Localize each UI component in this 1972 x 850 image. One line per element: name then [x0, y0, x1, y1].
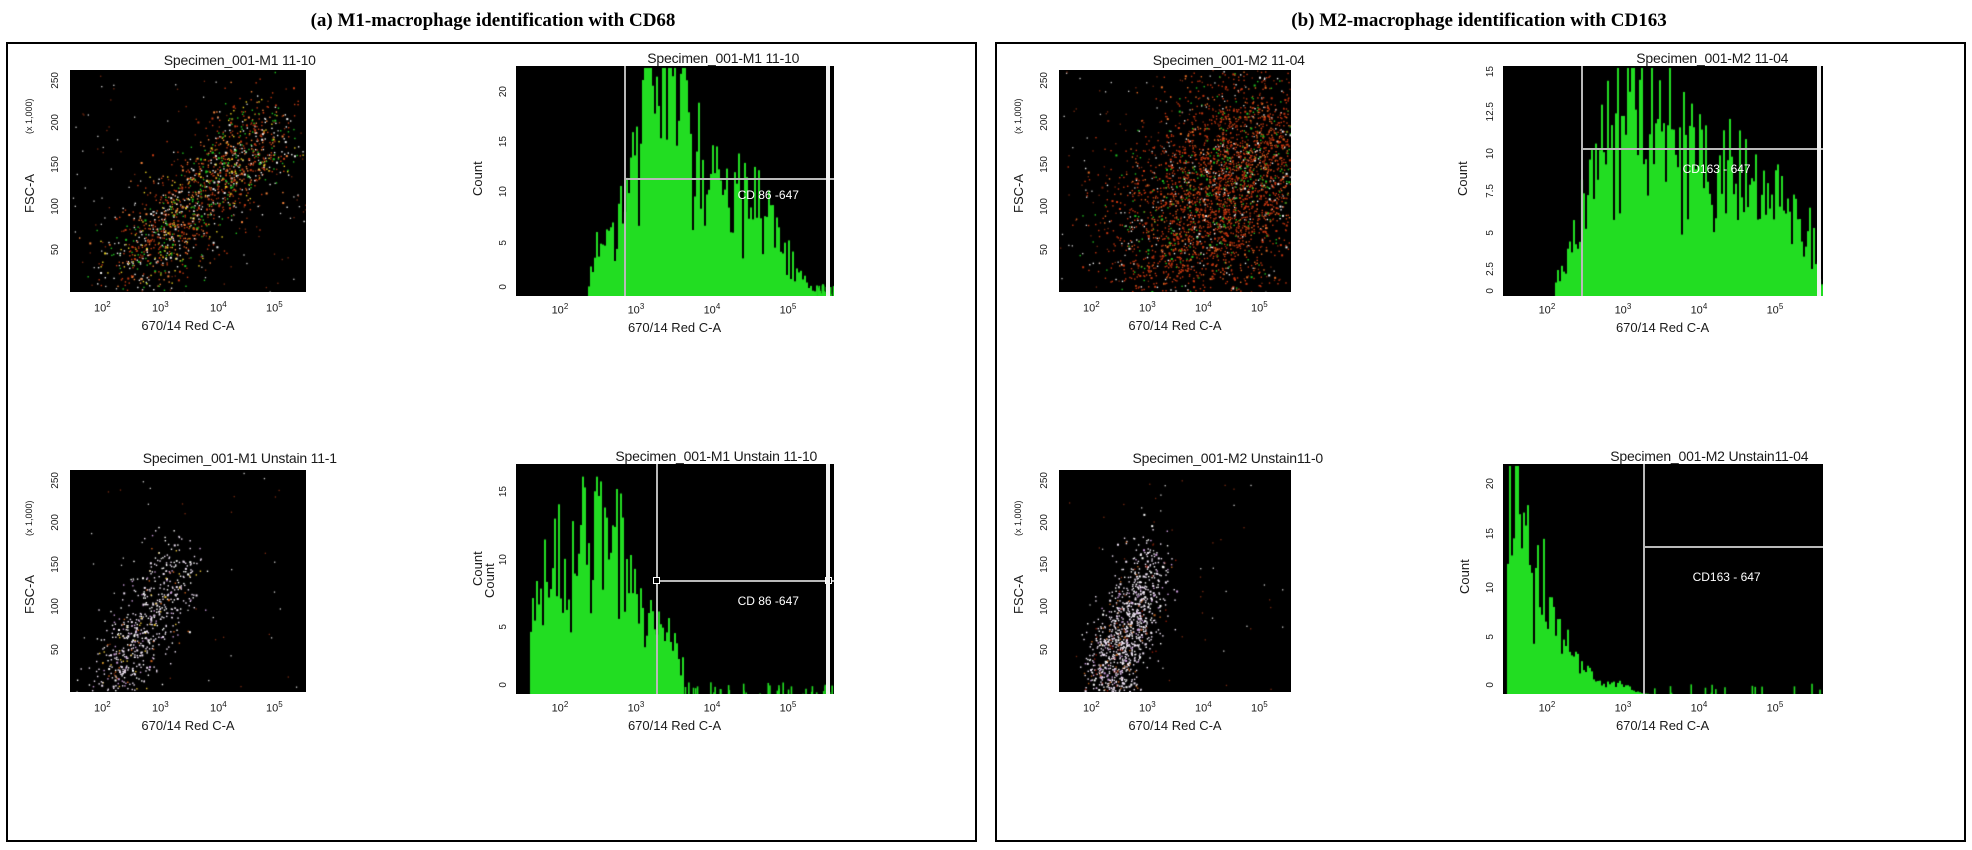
y-tick-50: 50 [1039, 244, 1050, 255]
y-tick-20: 20 [1485, 478, 1496, 489]
y-axis-label: FSC-A [1011, 550, 1026, 640]
y-tick-200: 200 [1039, 514, 1050, 531]
y-tick-0: 0 [1485, 288, 1496, 294]
scatter-canvas[interactable] [70, 470, 306, 692]
x-tick-1e5: 105 [1251, 700, 1268, 715]
right-edge-bar [826, 464, 830, 694]
y-tick-15: 15 [1485, 66, 1496, 77]
plot-title: Specimen_001-M2 Unstain11-0 [1023, 450, 1433, 466]
x-tick-1e2: 102 [1539, 302, 1556, 317]
plot-title: Specimen_001-M1 Unstain 11-1 [32, 450, 448, 466]
plot-a-bottom-right[interactable]: Specimen_001-M1 Unstain 11-10 Count Coun… [452, 442, 975, 840]
histogram-bars [1503, 464, 1823, 694]
x-tick-1e5: 105 [1767, 700, 1784, 715]
y-tick-10: 10 [1485, 582, 1496, 593]
gate-horizontal-line[interactable] [1581, 148, 1823, 150]
x-axis-label: 670/14 Red C-A [1059, 318, 1291, 333]
scatter-canvas[interactable] [70, 70, 306, 292]
y-tick-12p5: 12.5 [1485, 102, 1496, 121]
y-tick-20: 20 [498, 86, 509, 97]
scatter-canvas[interactable] [1059, 70, 1291, 292]
y-tick-0: 0 [498, 284, 509, 290]
x-tick-1e4: 104 [704, 700, 721, 715]
y-tick-150: 150 [50, 556, 61, 573]
x-tick-1e5: 105 [780, 302, 797, 317]
x-tick-1e3: 103 [1615, 302, 1632, 317]
y-tick-10: 10 [498, 186, 509, 197]
x-tick-1e4: 104 [1195, 300, 1212, 315]
y-tick-15: 15 [498, 136, 509, 147]
y-tick-10: 10 [1485, 148, 1496, 159]
gate-horizontal-line[interactable] [1643, 546, 1823, 548]
y-axis-label: Count [470, 144, 485, 214]
y-tick-0: 0 [1485, 682, 1496, 688]
x-tick-1e4: 104 [1691, 700, 1708, 715]
x-tick-1e2: 102 [94, 300, 111, 315]
x-tick-1e3: 103 [628, 700, 645, 715]
histogram-canvas[interactable]: CD 86 -647 [516, 464, 834, 694]
gate-vertical-line[interactable] [624, 66, 626, 296]
x-axis-label: 670/14 Red C-A [70, 718, 306, 733]
y-tick-5: 5 [1485, 634, 1496, 640]
y-tick-250: 250 [1039, 472, 1050, 489]
y-tick-200: 200 [50, 514, 61, 531]
histogram-canvas[interactable]: CD 86 -647 [516, 66, 834, 296]
gate-label: CD 86 -647 [738, 594, 799, 608]
scatter-canvas[interactable] [1059, 470, 1291, 692]
x-tick-1e2: 102 [1539, 700, 1556, 715]
panel-a-title: (a) M1-macrophage identification with CD… [0, 0, 986, 42]
gate-label: CD163 - 647 [1693, 570, 1761, 584]
x-tick-1e3: 103 [1615, 700, 1632, 715]
y-tick-250: 250 [1039, 72, 1050, 89]
gate-vertical-line[interactable] [1643, 464, 1645, 694]
y-tick-15: 15 [1485, 528, 1496, 539]
y-tick-5: 5 [1485, 230, 1496, 236]
plot-title: Specimen_001-M1 11-10 [492, 50, 955, 66]
y-axis-label: FSC-A [1011, 149, 1026, 239]
y-tick-7p5: 7.5 [1485, 184, 1496, 198]
x-axis-label: 670/14 Red C-A [1503, 718, 1823, 733]
x-tick-1e2: 102 [552, 700, 569, 715]
histogram-bars [516, 66, 834, 296]
plot-title: Specimen_001-M1 11-10 [38, 52, 442, 68]
y-tick-5: 5 [498, 240, 509, 246]
y-tick-200: 200 [1039, 114, 1050, 131]
x-tick-1e4: 104 [210, 300, 227, 315]
gate-handle-left[interactable] [653, 577, 660, 584]
plot-a-bottom-left[interactable]: Specimen_001-M1 Unstain 11-1 FSC-A (x 1,… [8, 442, 452, 840]
gate-vertical-line[interactable] [1581, 66, 1583, 296]
x-tick-1e2: 102 [94, 700, 111, 715]
panel-a-box: Specimen_001-M1 11-10 FSC-A (x 1,000) 25… [6, 42, 977, 842]
plot-a-top-right[interactable]: Specimen_001-M1 11-10 Count CD 86 -647 2… [452, 44, 975, 442]
y-tick-250: 250 [50, 72, 61, 89]
x-tick-1e4: 104 [1195, 700, 1212, 715]
histogram-canvas[interactable]: CD163 - 647 [1503, 464, 1823, 694]
scatter-points [70, 70, 306, 292]
x-tick-1e4: 104 [210, 700, 227, 715]
right-edge-bar [1817, 66, 1821, 296]
x-axis-label: 670/14 Red C-A [516, 320, 834, 335]
x-tick-1e5: 105 [266, 300, 283, 315]
y-tick-15: 15 [498, 486, 509, 497]
panel-b-grid: Specimen_001-M2 11-04 FSC-A (x 1,000) 25… [997, 44, 1964, 840]
plot-b-bottom-right[interactable]: Specimen_001-M2 Unstain11-04 Count CD163… [1441, 442, 1964, 840]
plot-title: Specimen_001-M2 Unstain11-04 [1471, 448, 1948, 464]
y-tick-5: 5 [498, 624, 509, 630]
y-axis-sublabel: (x 1,000) [24, 476, 34, 536]
gate-horizontal-line[interactable] [656, 580, 834, 582]
y-tick-100: 100 [50, 598, 61, 615]
y-tick-150: 150 [1039, 156, 1050, 173]
y-tick-100: 100 [50, 198, 61, 215]
x-tick-1e3: 103 [628, 302, 645, 317]
plot-b-top-right[interactable]: Specimen_001-M2 11-04 Count CD163 - 647 … [1441, 44, 1964, 442]
y-tick-200: 200 [50, 114, 61, 131]
y-axis-sublabel: (x 1,000) [1013, 74, 1023, 134]
right-edge-bar [826, 66, 830, 296]
x-tick-1e3: 103 [152, 300, 169, 315]
y-axis-sublabel: (x 1,000) [24, 74, 34, 134]
x-axis-label: 670/14 Red C-A [1059, 718, 1291, 733]
plot-title: Specimen_001-M2 11-04 [1031, 52, 1427, 68]
y-tick-100: 100 [1039, 198, 1050, 215]
y-tick-250: 250 [50, 472, 61, 489]
x-tick-1e5: 105 [1767, 302, 1784, 317]
gate-label: CD 86 -647 [738, 188, 799, 202]
gate-horizontal-line[interactable] [624, 178, 834, 180]
y-tick-50: 50 [50, 244, 61, 255]
plot-b-top-left[interactable]: Specimen_001-M2 11-04 FSC-A (x 1,000) 25… [997, 44, 1441, 442]
plot-title: Specimen_001-M2 11-04 [1481, 50, 1944, 66]
panel-a-grid: Specimen_001-M1 11-10 FSC-A (x 1,000) 25… [8, 44, 975, 840]
panel-b-title: (b) M2-macrophage identification with CD… [986, 0, 1972, 42]
histogram-bars [1503, 66, 1823, 296]
y-tick-50: 50 [50, 644, 61, 655]
x-tick-1e2: 102 [1083, 700, 1100, 715]
histogram-canvas[interactable]: CD163 - 647 [1503, 66, 1823, 296]
x-tick-1e2: 102 [552, 302, 569, 317]
figure-panels: Specimen_001-M1 11-10 FSC-A (x 1,000) 25… [0, 42, 1972, 842]
scatter-points [1059, 470, 1291, 692]
y-tick-0: 0 [498, 682, 509, 688]
scatter-points [1059, 70, 1291, 292]
panel-b-box: Specimen_001-M2 11-04 FSC-A (x 1,000) 25… [995, 42, 1966, 842]
y-tick-10: 10 [498, 554, 509, 565]
y-tick-150: 150 [1039, 556, 1050, 573]
x-axis-label: 670/14 Red C-A [70, 318, 306, 333]
y-tick-100: 100 [1039, 598, 1050, 615]
y-axis-sublabel: (x 1,000) [1013, 476, 1023, 536]
y-tick-150: 150 [50, 156, 61, 173]
y-axis-label: Count [1457, 542, 1472, 612]
plot-b-bottom-left[interactable]: Specimen_001-M2 Unstain11-0 FSC-A (x 1,0… [997, 442, 1441, 840]
x-tick-1e5: 105 [780, 700, 797, 715]
x-tick-1e3: 103 [1139, 700, 1156, 715]
x-tick-1e3: 103 [1139, 300, 1156, 315]
x-axis-label: 670/14 Red C-A [1503, 320, 1823, 335]
y-tick-2p5: 2.5 [1485, 262, 1496, 276]
x-tick-1e2: 102 [1083, 300, 1100, 315]
y-axis-label: Count [1455, 144, 1470, 214]
y-tick-50: 50 [1039, 644, 1050, 655]
x-tick-1e5: 105 [266, 700, 283, 715]
plot-a-top-left[interactable]: Specimen_001-M1 11-10 FSC-A (x 1,000) 25… [8, 44, 452, 442]
histogram-bars [516, 464, 834, 694]
y-axis-label: FSC-A [22, 149, 37, 239]
x-tick-1e5: 105 [1251, 300, 1268, 315]
x-tick-1e4: 104 [1691, 302, 1708, 317]
y-axis-label: FSC-A [22, 550, 37, 640]
scatter-points [70, 470, 306, 692]
x-tick-1e4: 104 [704, 302, 721, 317]
plot-title: Specimen_001-M1 Unstain 11-10 [478, 448, 955, 464]
gate-label: CD163 - 647 [1683, 162, 1751, 176]
figure-titles: (a) M1-macrophage identification with CD… [0, 0, 1972, 42]
y-axis-label: Count [482, 546, 497, 616]
x-axis-label: 670/14 Red C-A [516, 718, 834, 733]
x-tick-1e3: 103 [152, 700, 169, 715]
